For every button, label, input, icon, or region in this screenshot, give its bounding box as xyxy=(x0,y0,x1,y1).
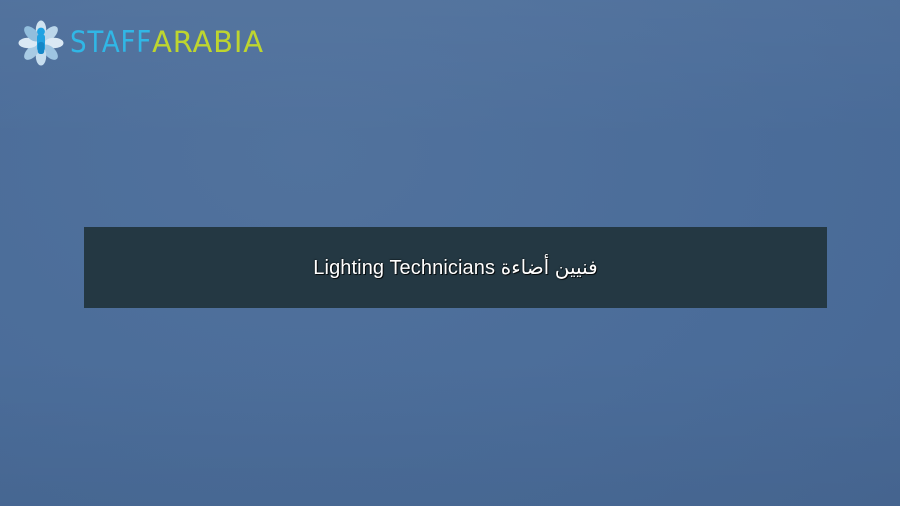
brand-wordmark: STAFF ARABIA xyxy=(70,27,264,57)
brand-word-arabia: ARABIA xyxy=(152,27,264,57)
job-title-banner: Lighting Technicians فنيين أضاءة xyxy=(84,227,827,308)
brand-logo[interactable]: STAFF ARABIA xyxy=(16,18,264,66)
slide-canvas: STAFF ARABIA Lighting Technicians فنيين … xyxy=(0,0,900,506)
job-title-text: Lighting Technicians فنيين أضاءة xyxy=(313,255,597,280)
brand-word-staff: STAFF xyxy=(70,27,152,57)
snowflake-flower-logo-icon xyxy=(16,17,66,67)
